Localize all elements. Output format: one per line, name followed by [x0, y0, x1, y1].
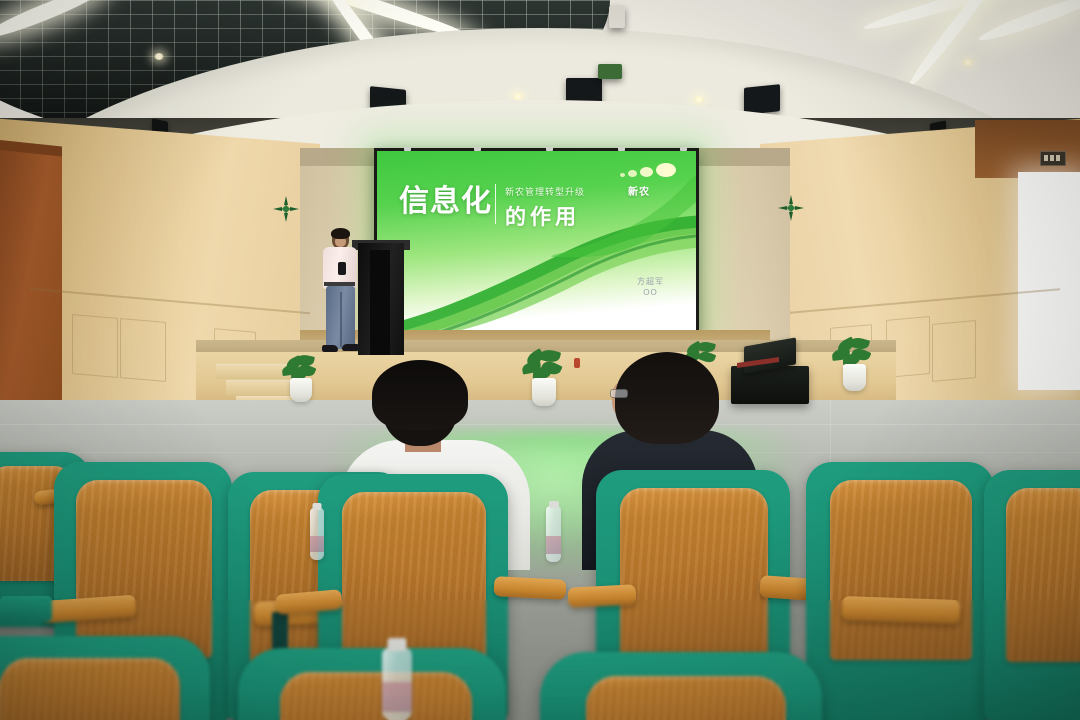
water-bottle-foreground[interactable] [382, 648, 412, 720]
presenter-leg-split [340, 292, 342, 347]
chair-armrest[interactable] [842, 596, 961, 624]
slide-title-divider [495, 184, 496, 224]
wall-ornament-right [778, 195, 804, 221]
exit-sign [1040, 151, 1066, 166]
led-screen-surface: 信息化 新农管理转型升级 的作用 新农 方超军 OO [377, 151, 696, 333]
subwoofer [731, 366, 809, 404]
audience-right-glasses [610, 389, 628, 398]
chair-arm-fabric[interactable] [0, 596, 52, 622]
stage-marker [574, 358, 580, 368]
wall-panel [72, 314, 118, 378]
presenter-microphone [338, 262, 346, 275]
slide-presenter-sub: OO [637, 287, 664, 299]
chair-armrest[interactable] [494, 576, 567, 600]
audience-right-hair [615, 352, 719, 444]
screen-mount-clip [474, 147, 481, 151]
downlight [513, 93, 523, 100]
downlight [963, 59, 973, 66]
water-bottle-center[interactable] [546, 506, 561, 562]
ceiling-speaker-box [744, 84, 780, 115]
chair-armrest[interactable] [568, 584, 637, 608]
screen-mount-clip [404, 147, 411, 151]
chair-front-6[interactable] [984, 470, 1080, 720]
wall-panel [120, 318, 166, 382]
slide-logo-text: 新农 [628, 183, 650, 198]
doorway-right [1018, 172, 1080, 390]
chair-nearest-right[interactable] [540, 652, 822, 720]
slide-logo: 新农 [618, 161, 680, 197]
slide-subtitle-large: 的作用 [505, 201, 580, 231]
wall-panel [932, 320, 976, 382]
led-screen[interactable]: 信息化 新农管理转型升级 的作用 新农 方超军 OO [374, 148, 699, 336]
water-bottle-left[interactable] [310, 508, 324, 560]
screen-mount-clip [618, 147, 625, 151]
downlight [694, 96, 704, 103]
presenter-shoe [322, 345, 338, 352]
presenter-hair [331, 228, 350, 239]
slide-presenter-block: 方超军 OO [637, 276, 664, 299]
cove-light-far-right [977, 0, 1080, 46]
conference-hall-photo: 信息化 新农管理转型升级 的作用 新农 方超军 OO [0, 0, 1080, 720]
ceiling-indicator-box [598, 64, 622, 79]
downlight [154, 53, 164, 60]
slide-presenter-name: 方超军 [637, 276, 664, 288]
screen-mount-clip [680, 147, 687, 151]
chair-front-5[interactable] [806, 462, 994, 720]
chair-nearest-center[interactable] [238, 648, 506, 720]
screen-mount-clip [546, 147, 553, 151]
chair-nearest-left[interactable] [0, 636, 210, 720]
wall-ornament-left [273, 196, 299, 222]
slide-title: 信息化 [399, 187, 492, 217]
slide-subtitle-small: 新农管理转型升级 [505, 185, 585, 198]
presenter-shoe [342, 344, 359, 351]
ceiling-projector-mount [609, 6, 625, 28]
podium-stem [370, 250, 390, 355]
audience-left-hair [372, 360, 468, 430]
upper-wall-right-brown [975, 120, 1080, 178]
